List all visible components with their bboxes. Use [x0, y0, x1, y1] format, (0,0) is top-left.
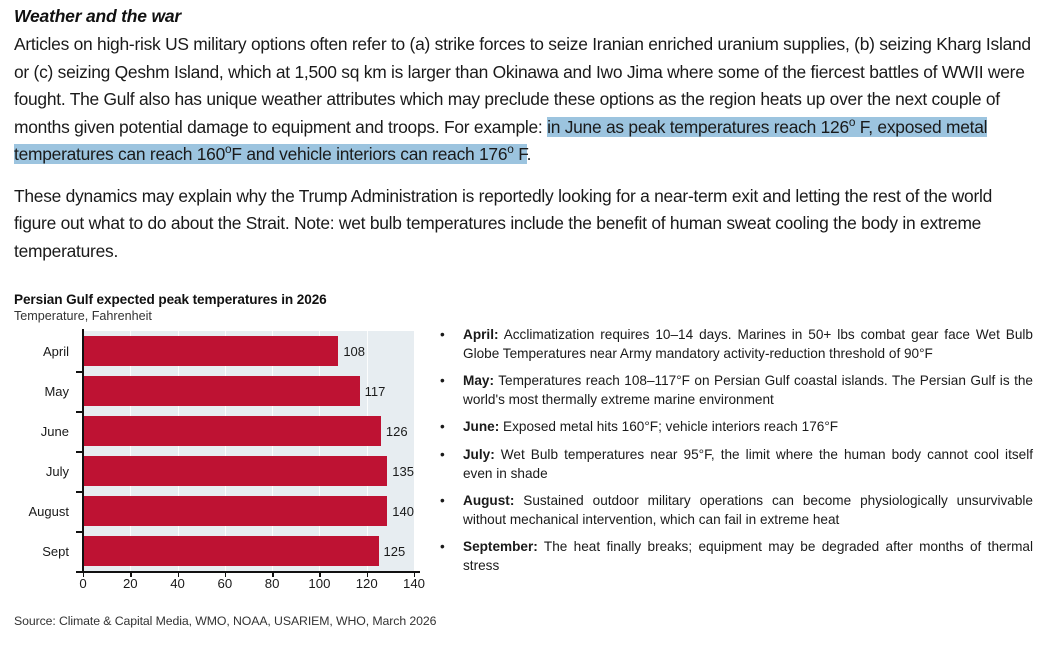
chart-bar-june [83, 416, 381, 446]
chart-y-tick [76, 531, 83, 533]
chart-gridline [414, 331, 415, 571]
chart-source-note: Source: Climate & Capital Media, WMO, NO… [14, 614, 436, 628]
list-item-label: April: [463, 327, 499, 342]
chart-y-tick [76, 491, 83, 493]
highlight-text-d: F [514, 144, 527, 164]
list-item-text: The heat finally breaks; equipment may b… [463, 539, 1033, 573]
monthly-notes-list: •April: Acclimatization requires 10–14 d… [437, 326, 1033, 576]
bullet-dot-icon: • [440, 446, 445, 465]
chart-y-tick [76, 451, 83, 453]
list-item-text: Temperatures reach 108–117°F on Persian … [463, 373, 1033, 407]
chart-block: Persian Gulf expected peak temperatures … [14, 292, 434, 583]
list-item: •July: Wet Bulb temperatures near 95°F, … [437, 446, 1033, 483]
bullet-dot-icon: • [440, 372, 445, 391]
chart-bar-value-june: 126 [386, 424, 408, 439]
chart-bars-container: 108117126135140125 [83, 331, 414, 571]
list-item: •April: Acclimatization requires 10–14 d… [437, 326, 1033, 363]
list-item-label: August: [463, 493, 514, 508]
chart-subtitle: Temperature, Fahrenheit [14, 309, 434, 324]
chart-y-label-april: April [14, 331, 76, 371]
article-text-block: Weather and the war Articles on high-ris… [14, 4, 1034, 265]
paragraph-1-text-post: . [527, 144, 532, 164]
chart-bar-row: 140 [83, 491, 414, 531]
article-paragraph-2: These dynamics may explain why the Trump… [14, 183, 1034, 266]
chart-bar-row: 135 [83, 451, 414, 491]
chart-x-label-60: 60 [218, 576, 233, 591]
chart-bar-value-august: 140 [392, 504, 414, 519]
list-item-label: July: [463, 447, 495, 462]
list-item-label: May: [463, 373, 494, 388]
chart-bar-row: 108 [83, 331, 414, 371]
chart-x-axis-labels: 020406080100120140 [83, 576, 414, 594]
list-item-text: Acclimatization requires 10–14 days. Mar… [463, 327, 1033, 361]
chart-bar-april [83, 336, 338, 366]
article-paragraph-1: Articles on high-risk US military option… [14, 31, 1034, 169]
chart-x-label-140: 140 [403, 576, 425, 591]
chart-bar-value-april: 108 [343, 344, 365, 359]
list-item-text: Sustained outdoor military operations ca… [463, 493, 1033, 527]
chart-bar-row: 126 [83, 411, 414, 451]
chart-x-label-40: 40 [170, 576, 185, 591]
list-item-text: Exposed metal hits 160°F; vehicle interi… [499, 419, 838, 434]
list-item-label: June: [463, 419, 499, 434]
chart-bar-value-sept: 125 [384, 544, 406, 559]
bullet-dot-icon: • [440, 492, 445, 511]
chart-bar-row: 117 [83, 371, 414, 411]
chart-y-tick [76, 371, 83, 373]
bullet-dot-icon: • [440, 538, 445, 557]
list-item: •May: Temperatures reach 108–117°F on Pe… [437, 372, 1033, 409]
chart-y-label-may: May [14, 371, 76, 411]
chart-bar-sept [83, 536, 379, 566]
chart-title: Persian Gulf expected peak temperatures … [14, 292, 434, 308]
chart-bar-may [83, 376, 360, 406]
chart-x-label-20: 20 [123, 576, 138, 591]
chart-y-label-july: July [14, 451, 76, 491]
chart-x-label-100: 100 [308, 576, 330, 591]
list-item-text: Wet Bulb temperatures near 95°F, the lim… [463, 447, 1033, 481]
chart-bar-row: 125 [83, 531, 414, 571]
chart-y-tick [76, 411, 83, 413]
chart-x-label-0: 0 [79, 576, 86, 591]
chart-y-label-june: June [14, 411, 76, 451]
chart-y-label-sept: Sept [14, 531, 76, 571]
list-item-label: September: [463, 539, 538, 554]
chart-x-label-120: 120 [356, 576, 378, 591]
chart-x-axis-line [76, 571, 420, 573]
chart-bar-value-may: 117 [365, 384, 386, 399]
highlight-text-a: in June as peak temperatures reach 126 [547, 117, 849, 137]
chart-bar-value-july: 135 [392, 464, 414, 479]
chart-y-label-august: August [14, 491, 76, 531]
chart-plot-wrapper: AprilMayJuneJulyAugustSept 1081171261351… [14, 331, 414, 583]
list-item: •August: Sustained outdoor military oper… [437, 492, 1033, 529]
chart-bar-august [83, 496, 387, 526]
list-item: •September: The heat finally breaks; equ… [437, 538, 1033, 575]
section-heading: Weather and the war [14, 4, 1034, 28]
bullet-dot-icon: • [440, 326, 445, 345]
chart-y-axis-labels: AprilMayJuneJulyAugustSept [14, 331, 76, 571]
list-item: •June: Exposed metal hits 160°F; vehicle… [437, 418, 1033, 437]
chart-x-label-80: 80 [265, 576, 280, 591]
highlight-text-c: F and vehicle interiors can reach 176 [231, 144, 507, 164]
chart-bar-july [83, 456, 387, 486]
bullet-dot-icon: • [440, 418, 445, 437]
